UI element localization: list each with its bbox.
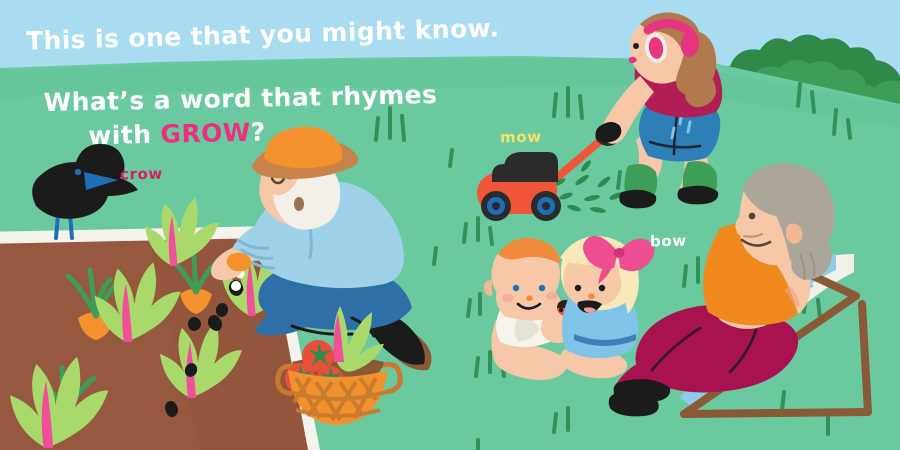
scene-artwork [0, 0, 900, 450]
illustration-page: This is one that you might know. What’s … [0, 0, 900, 450]
